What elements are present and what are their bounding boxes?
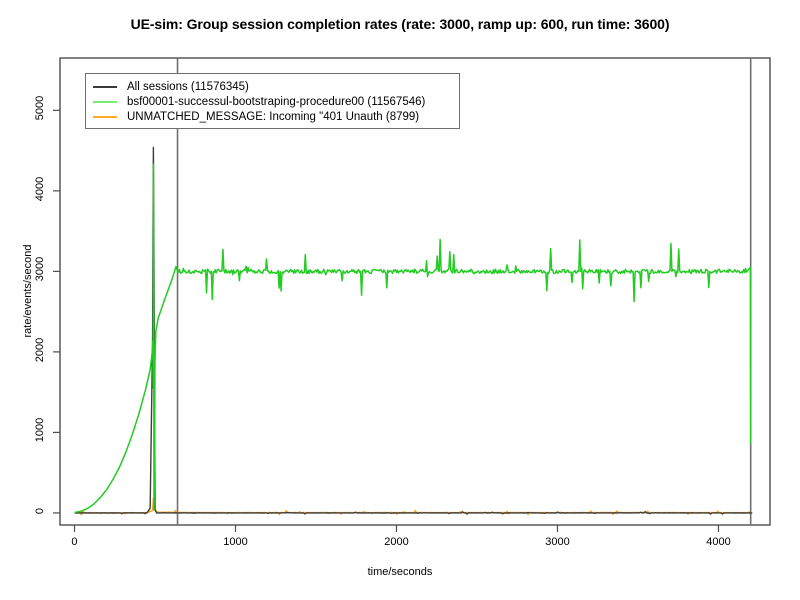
x-tick-label: 0 bbox=[44, 536, 104, 548]
legend-item-unmatched: UNMATCHED_MESSAGE: Incoming "401 Unauth … bbox=[93, 109, 419, 125]
x-tick-label: 2000 bbox=[366, 536, 426, 548]
legend-item-all-sessions: All sessions (11576345) bbox=[93, 79, 249, 95]
series-line-all-sessions bbox=[74, 147, 752, 514]
x-axis-label: time/seconds bbox=[0, 566, 800, 578]
legend-swatch-all-sessions bbox=[93, 86, 117, 88]
legend-swatch-bootstrapping bbox=[93, 101, 117, 103]
legend-label-bootstrapping: bsf00001-successul-bootstraping-procedur… bbox=[127, 96, 425, 108]
chart-page: UE-sim: Group session completion rates (… bbox=[0, 0, 800, 600]
y-tick-label: 0 bbox=[34, 481, 46, 541]
y-tick-label: 4000 bbox=[34, 159, 46, 219]
legend-item-bootstrapping: bsf00001-successul-bootstraping-procedur… bbox=[93, 94, 425, 110]
y-tick-label: 5000 bbox=[34, 78, 46, 138]
x-tick-label: 1000 bbox=[205, 536, 265, 548]
legend-label-all-sessions: All sessions (11576345) bbox=[127, 81, 249, 93]
x-tick-label: 3000 bbox=[527, 536, 587, 548]
y-axis-label: rate/events/second bbox=[22, 211, 34, 371]
y-tick-label: 1000 bbox=[34, 400, 46, 460]
x-tick-label: 4000 bbox=[688, 536, 748, 548]
chart-legend: All sessions (11576345) bsf00001-success… bbox=[85, 73, 460, 129]
series-line-bootstrapping bbox=[74, 164, 750, 512]
legend-swatch-unmatched bbox=[93, 116, 117, 118]
y-tick-label: 2000 bbox=[34, 320, 46, 380]
legend-label-unmatched: UNMATCHED_MESSAGE: Incoming "401 Unauth … bbox=[127, 111, 419, 123]
y-tick-label: 3000 bbox=[34, 239, 46, 299]
